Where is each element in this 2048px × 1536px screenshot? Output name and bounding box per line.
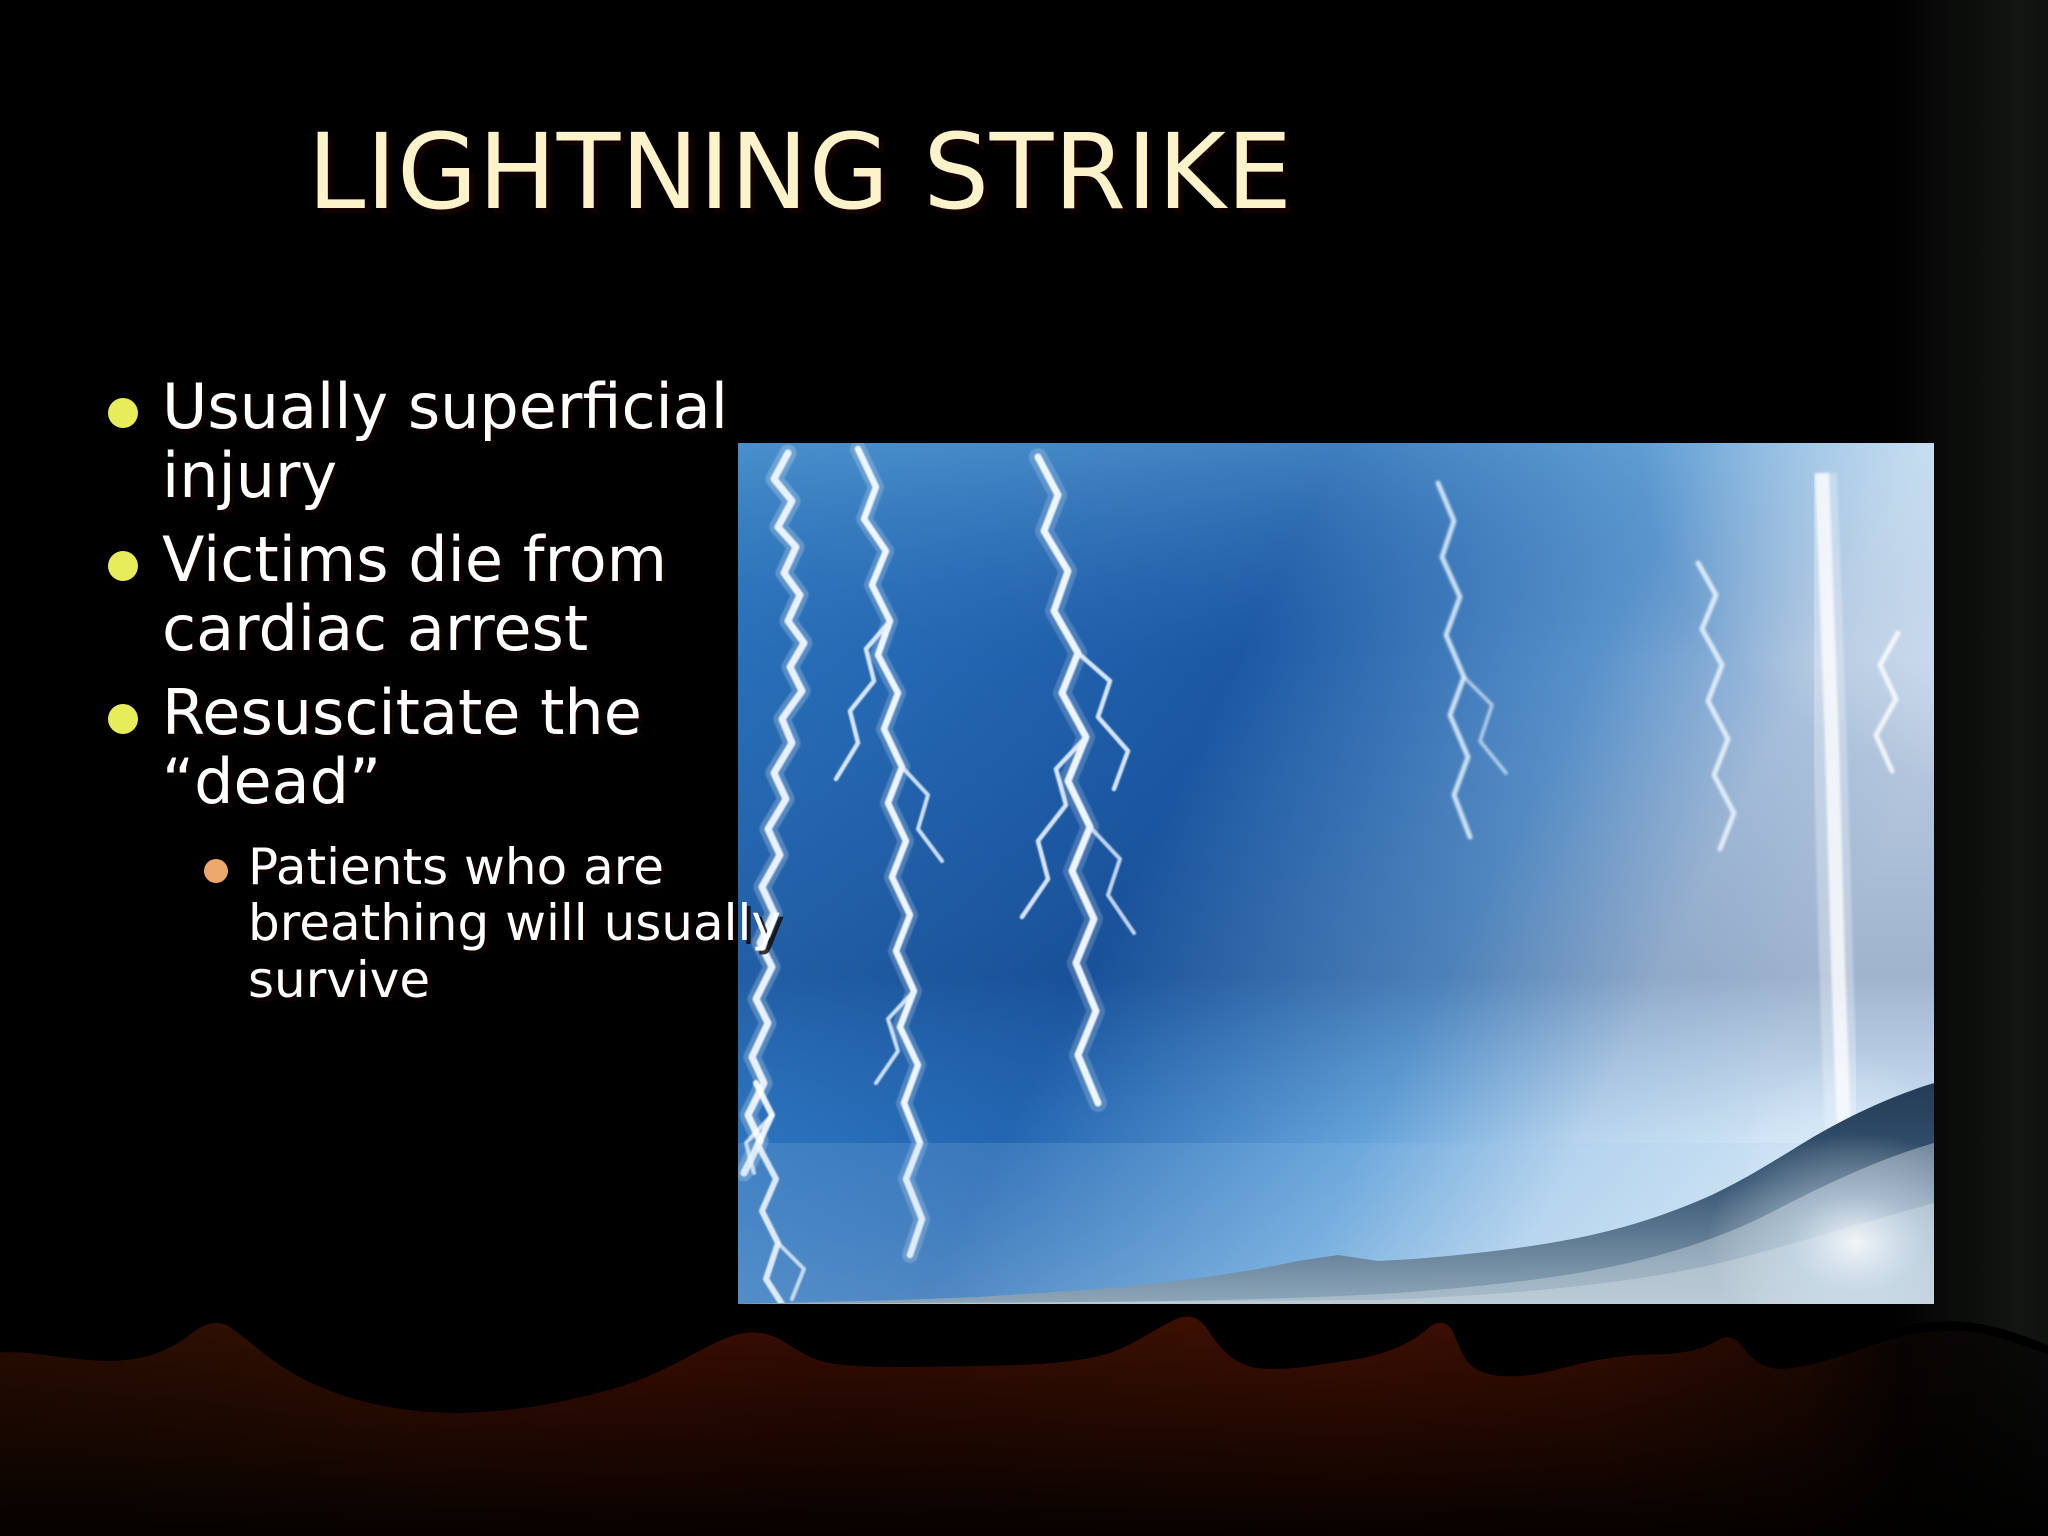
slide-title: LIGHTNING STRIKE — [60, 118, 1540, 227]
sub-bullet-dot-icon — [204, 859, 228, 883]
list-item: Usually superficial injury — [108, 372, 908, 511]
bullet-text: Victims die from cardiac arrest — [162, 525, 802, 664]
bullet-list: Usually superficial injury Victims die f… — [108, 372, 908, 1022]
bullet-text: Usually superficial injury — [162, 372, 802, 511]
lightning-photo-graphic — [738, 443, 1934, 1304]
bullet-dot-icon — [108, 398, 138, 428]
sub-bullet-text: Patients who are breathing will usually … — [248, 839, 808, 1009]
bullet-text: Resuscitate the “dead” — [162, 678, 802, 817]
list-item: Victims die from cardiac arrest — [108, 525, 908, 664]
bottom-mountain-border — [0, 1306, 2048, 1536]
bullet-dot-icon — [108, 704, 138, 734]
list-item: Resuscitate the “dead” — [108, 678, 908, 817]
lightning-photo — [738, 443, 1934, 1304]
slide-canvas: LIGHTNING STRIKE Usually superficial inj… — [0, 0, 2048, 1536]
sub-list-item: Patients who are breathing will usually … — [204, 839, 908, 1009]
bullet-dot-icon — [108, 551, 138, 581]
